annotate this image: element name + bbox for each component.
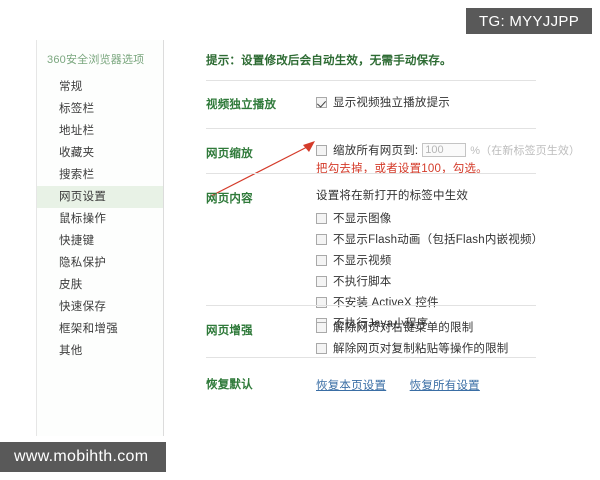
sidebar-item-privacy[interactable]: 隐私保护 — [37, 252, 163, 274]
section-label-restore: 恢复默认 — [206, 376, 253, 392]
sidebar-item-general[interactable]: 常规 — [37, 76, 163, 98]
checkbox-no-images[interactable] — [316, 213, 327, 224]
sidebar-item-webpage-settings[interactable]: 网页设置 — [37, 186, 163, 208]
sidebar-item-frame-enhance[interactable]: 框架和增强 — [37, 318, 163, 340]
watermark-top-right: TG: MYYJJPP — [466, 8, 592, 34]
restore-all-settings-link[interactable]: 恢复所有设置 — [410, 380, 480, 392]
zoom-suffix-label: %（在新标签页生效） — [470, 142, 580, 158]
section-label-enhance: 网页增强 — [206, 322, 253, 338]
checkbox-label-no-script: 不执行脚本 — [333, 273, 392, 289]
checkbox-row-no-video[interactable]: 不显示视频 — [316, 252, 543, 268]
sidebar-item-mouse-gestures[interactable]: 鼠标操作 — [37, 208, 163, 230]
restore-page-settings-link[interactable]: 恢复本页设置 — [316, 380, 386, 392]
checkbox-row-unlock-copypaste[interactable]: 解除网页对复制粘贴等操作的限制 — [316, 340, 509, 356]
checkbox-row-no-images[interactable]: 不显示图像 — [316, 210, 543, 226]
settings-content: 提示：设置修改后会自动生效，无需手动保存。 视频独立播放 显示视频独立播放提示 … — [165, 40, 576, 436]
checkbox-label-show-video-tip: 显示视频独立播放提示 — [333, 94, 450, 110]
sidebar: 360安全浏览器选项 常规 标签栏 地址栏 收藏夹 搜索栏 网页设置 鼠标操作 … — [36, 40, 164, 436]
sidebar-title: 360安全浏览器选项 — [37, 40, 163, 76]
sidebar-item-shortcuts[interactable]: 快捷键 — [37, 230, 163, 252]
enhance-controls: 解除网页对右键菜单的限制 解除网页对复制粘贴等操作的限制 — [316, 319, 509, 361]
checkbox-no-video[interactable] — [316, 255, 327, 266]
checkbox-label-unlock-copypaste: 解除网页对复制粘贴等操作的限制 — [333, 340, 509, 356]
checkbox-label-zoom-all-pages: 缩放所有网页到: — [333, 142, 418, 158]
checkbox-label-no-images: 不显示图像 — [333, 210, 392, 226]
divider — [206, 128, 536, 129]
sidebar-item-other[interactable]: 其他 — [37, 340, 163, 362]
sidebar-item-skin[interactable]: 皮肤 — [37, 274, 163, 296]
checkbox-row-zoom-all-pages[interactable]: 缩放所有网页到: %（在新标签页生效） — [316, 142, 580, 158]
checkbox-row-unlock-contextmenu[interactable]: 解除网页对右键菜单的限制 — [316, 319, 509, 335]
checkbox-no-script[interactable] — [316, 276, 327, 287]
page-content-hint: 设置将在新打开的标签中生效 — [316, 187, 543, 203]
section-label-video: 视频独立播放 — [206, 96, 276, 112]
video-controls: 显示视频独立播放提示 — [316, 94, 450, 115]
checkbox-label-no-activex: 不安装 ActiveX 控件 — [333, 294, 439, 310]
sidebar-item-tabbar[interactable]: 标签栏 — [37, 98, 163, 120]
divider — [206, 357, 536, 358]
sidebar-item-searchbar[interactable]: 搜索栏 — [37, 164, 163, 186]
tip-text: 提示：设置修改后会自动生效，无需手动保存。 — [206, 52, 452, 68]
checkbox-row-show-video-tip[interactable]: 显示视频独立播放提示 — [316, 94, 450, 110]
divider — [206, 173, 536, 174]
sidebar-item-addressbar[interactable]: 地址栏 — [37, 120, 163, 142]
checkbox-label-no-flash: 不显示Flash动画（包括Flash内嵌视频） — [333, 231, 543, 247]
checkbox-no-flash[interactable] — [316, 234, 327, 245]
options-window: 360安全浏览器选项 常规 标签栏 地址栏 收藏夹 搜索栏 网页设置 鼠标操作 … — [36, 40, 576, 436]
watermark-top-right-text: TG: MYYJJPP — [479, 13, 579, 30]
section-label-zoom: 网页缩放 — [206, 145, 253, 161]
checkbox-row-no-flash[interactable]: 不显示Flash动画（包括Flash内嵌视频） — [316, 231, 543, 247]
checkbox-unlock-contextmenu[interactable] — [316, 322, 327, 333]
watermark-bottom-left-text: www.mobihth.com — [14, 448, 148, 466]
divider — [206, 305, 536, 306]
checkbox-show-video-tip[interactable] — [316, 97, 327, 108]
checkbox-row-no-script[interactable]: 不执行脚本 — [316, 273, 543, 289]
watermark-bottom-left: www.mobihth.com — [0, 442, 166, 472]
checkbox-label-unlock-contextmenu: 解除网页对右键菜单的限制 — [333, 319, 473, 335]
restore-controls: 恢复本页设置 恢复所有设置 — [316, 376, 499, 394]
checkbox-unlock-copypaste[interactable] — [316, 343, 327, 354]
divider — [206, 80, 536, 81]
sidebar-item-quicksave[interactable]: 快速保存 — [37, 296, 163, 318]
checkbox-label-no-video: 不显示视频 — [333, 252, 392, 268]
checkbox-zoom-all-pages[interactable] — [316, 145, 327, 156]
section-label-page-content: 网页内容 — [206, 190, 253, 206]
checkbox-row-no-activex[interactable]: 不安装 ActiveX 控件 — [316, 294, 543, 310]
sidebar-item-favorites[interactable]: 收藏夹 — [37, 142, 163, 164]
zoom-percent-input[interactable] — [422, 143, 466, 157]
page-content-controls: 设置将在新打开的标签中生效 不显示图像 不显示Flash动画（包括Flash内嵌… — [316, 187, 543, 336]
